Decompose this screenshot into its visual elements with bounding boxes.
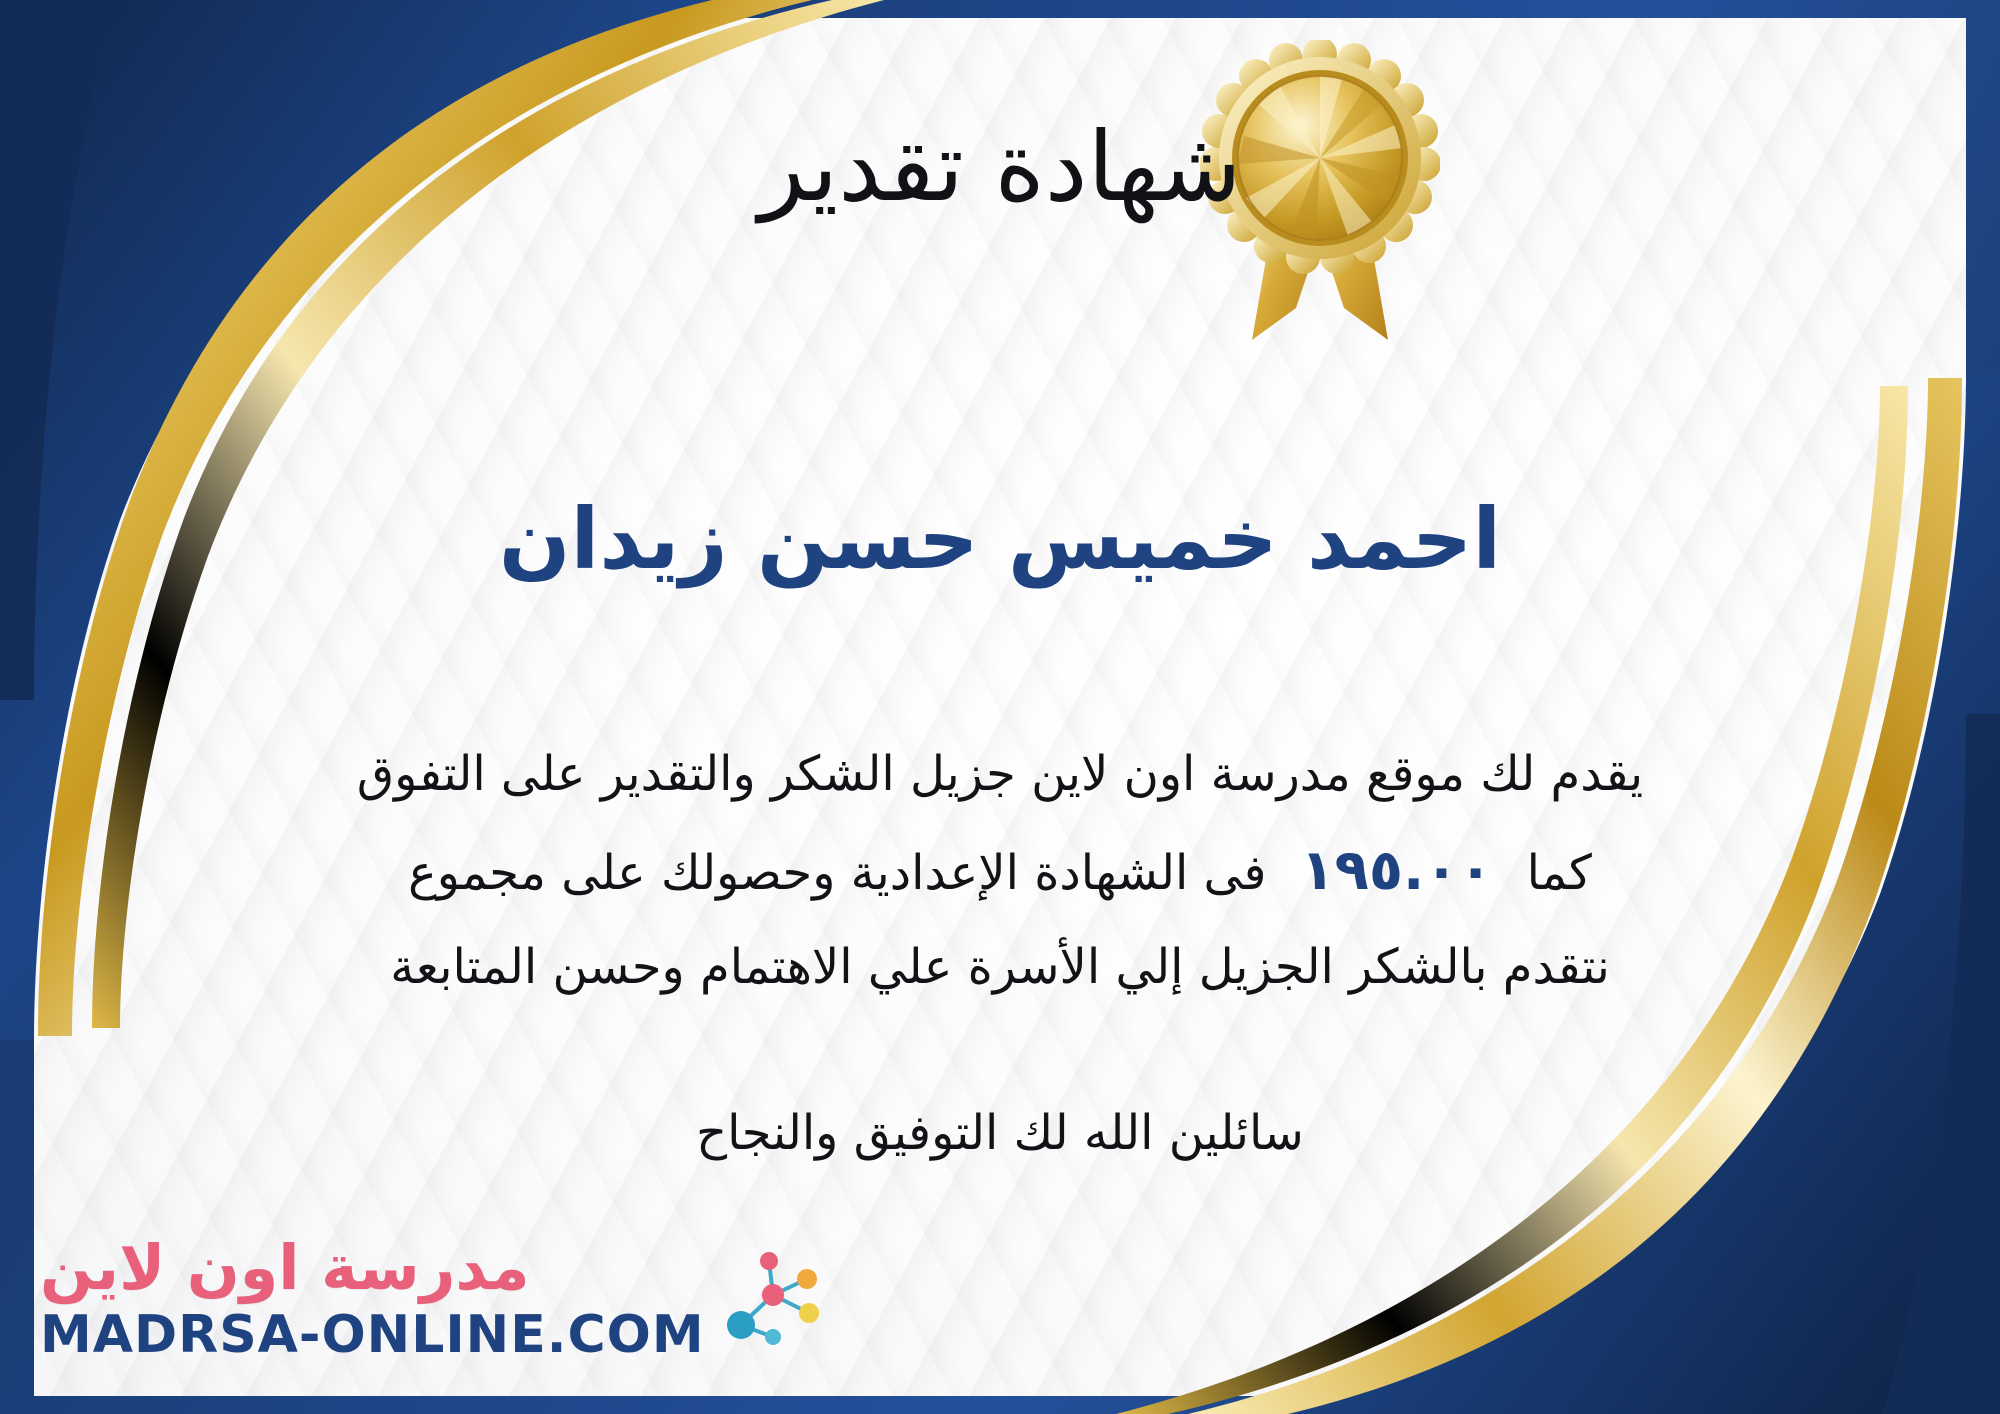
body-line-2-prefix: فى الشهادة الإعدادية وحصولك على مجموع bbox=[408, 845, 1266, 901]
certificate-document: شهادة تقدير احمد خميس حسن زيدان يقدم لك … bbox=[0, 0, 2000, 1414]
brand-logo[interactable]: مدرسة اون لاين MADRSA-ONLINE.COM bbox=[40, 1211, 510, 1386]
body-line-2-suffix: كما bbox=[1527, 845, 1592, 901]
body-line-1: يقدم لك موقع مدرسة اون لاين جزيل الشكر و… bbox=[60, 730, 1940, 819]
brand-website: MADRSA-ONLINE.COM bbox=[40, 1309, 705, 1361]
score-value: ١٩٥.٠٠ bbox=[1267, 838, 1527, 903]
recipient-name: احمد خميس حسن زيدان bbox=[0, 492, 2000, 586]
certificate-body: يقدم لك موقع مدرسة اون لاين جزيل الشكر و… bbox=[60, 730, 1940, 1013]
certificate-title: شهادة تقدير bbox=[0, 116, 2000, 220]
closing-line: سائلين الله لك التوفيق والنجاح bbox=[0, 1105, 2000, 1161]
body-line-3: نتقدم بالشكر الجزيل إلي الأسرة علي الاهت… bbox=[60, 923, 1940, 1012]
network-nodes-icon bbox=[711, 1239, 831, 1359]
brand-logo-text: مدرسة اون لاين MADRSA-ONLINE.COM bbox=[40, 1237, 705, 1361]
body-line-2: كما١٩٥.٠٠فى الشهادة الإعدادية وحصولك على… bbox=[60, 819, 1940, 923]
brand-arabic-name: مدرسة اون لاين bbox=[40, 1237, 530, 1299]
